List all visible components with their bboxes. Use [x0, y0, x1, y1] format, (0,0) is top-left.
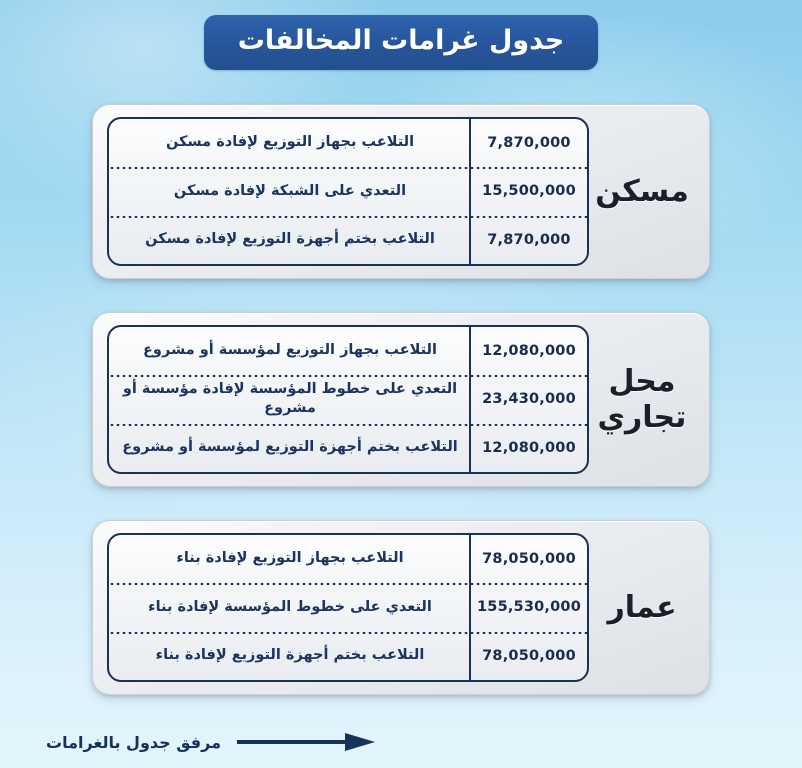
footer-label: مرفق جدول بالغرامات — [46, 733, 221, 752]
table-row: 78,050,000 التلاعب بجهاز التوزيع لإفادة … — [109, 535, 587, 583]
table-row: 7,870,000 التلاعب بختم أجهزة التوزيع لإف… — [109, 216, 587, 264]
table-row: 12,080,000 التلاعب بختم أجهزة التوزيع لم… — [109, 424, 587, 472]
violation-description: التلاعب بختم أجهزة التوزيع لمؤسسة أو مشر… — [109, 438, 471, 458]
fines-table: 12,080,000 التلاعب بجهاز التوزيع لمؤسسة … — [107, 325, 589, 474]
fine-amount: 15,500,000 — [471, 183, 587, 199]
fine-amount: 12,080,000 — [471, 343, 587, 359]
card-category-label: محل تجاري — [589, 325, 695, 474]
table-row: 7,870,000 التلاعب بجهاز التوزيع لإفادة م… — [109, 119, 587, 167]
fine-amount: 78,050,000 — [471, 648, 587, 664]
table-row: 155,530,000 التعدي على خطوط المؤسسة لإفا… — [109, 583, 587, 631]
violation-description: التعدي على الشبكة لإفادة مسكن — [109, 182, 471, 202]
card-category-label: عمار — [589, 533, 695, 682]
card-category-label: مسكن — [589, 117, 695, 266]
fine-amount: 155,530,000 — [471, 599, 587, 615]
fines-card-list: مسكن 7,870,000 التلاعب بجهاز التوزيع لإف… — [0, 104, 802, 695]
fine-amount: 7,870,000 — [471, 135, 587, 151]
violation-description: التعدي على خطوط المؤسسة لإفادة بناء — [109, 598, 471, 618]
violation-description: التلاعب بختم أجهزة التوزيع لإفادة بناء — [109, 646, 471, 666]
table-row: 78,050,000 التلاعب بختم أجهزة التوزيع لإ… — [109, 632, 587, 680]
table-row: 15,500,000 التعدي على الشبكة لإفادة مسكن — [109, 167, 587, 215]
fine-amount: 12,080,000 — [471, 440, 587, 456]
violation-description: التلاعب بجهاز التوزيع لإفادة مسكن — [109, 133, 471, 153]
fine-amount: 23,430,000 — [471, 391, 587, 407]
arrow-right-icon — [237, 730, 377, 754]
table-row: 23,430,000 التعدي على خطوط المؤسسة لإفاد… — [109, 375, 587, 423]
footer-note: مرفق جدول بالغرامات — [0, 730, 802, 754]
fine-amount: 7,870,000 — [471, 232, 587, 248]
fines-card-building: عمار 78,050,000 التلاعب بجهاز التوزيع لإ… — [92, 520, 710, 695]
page-title: جدول غرامات المخالفات — [204, 15, 598, 70]
page-title-bar: جدول غرامات المخالفات — [0, 0, 802, 70]
fine-amount: 78,050,000 — [471, 551, 587, 567]
fines-card-commercial: محل تجاري 12,080,000 التلاعب بجهاز التوز… — [92, 312, 710, 487]
violation-description: التلاعب بجهاز التوزيع لمؤسسة أو مشروع — [109, 341, 471, 361]
violation-description: التعدي على خطوط المؤسسة لإفادة مؤسسة أو … — [109, 380, 471, 419]
violation-description: التلاعب بختم أجهزة التوزيع لإفادة مسكن — [109, 230, 471, 250]
fines-table: 7,870,000 التلاعب بجهاز التوزيع لإفادة م… — [107, 117, 589, 266]
fines-card-residence: مسكن 7,870,000 التلاعب بجهاز التوزيع لإف… — [92, 104, 710, 279]
fines-table: 78,050,000 التلاعب بجهاز التوزيع لإفادة … — [107, 533, 589, 682]
violation-description: التلاعب بجهاز التوزيع لإفادة بناء — [109, 549, 471, 569]
table-row: 12,080,000 التلاعب بجهاز التوزيع لمؤسسة … — [109, 327, 587, 375]
